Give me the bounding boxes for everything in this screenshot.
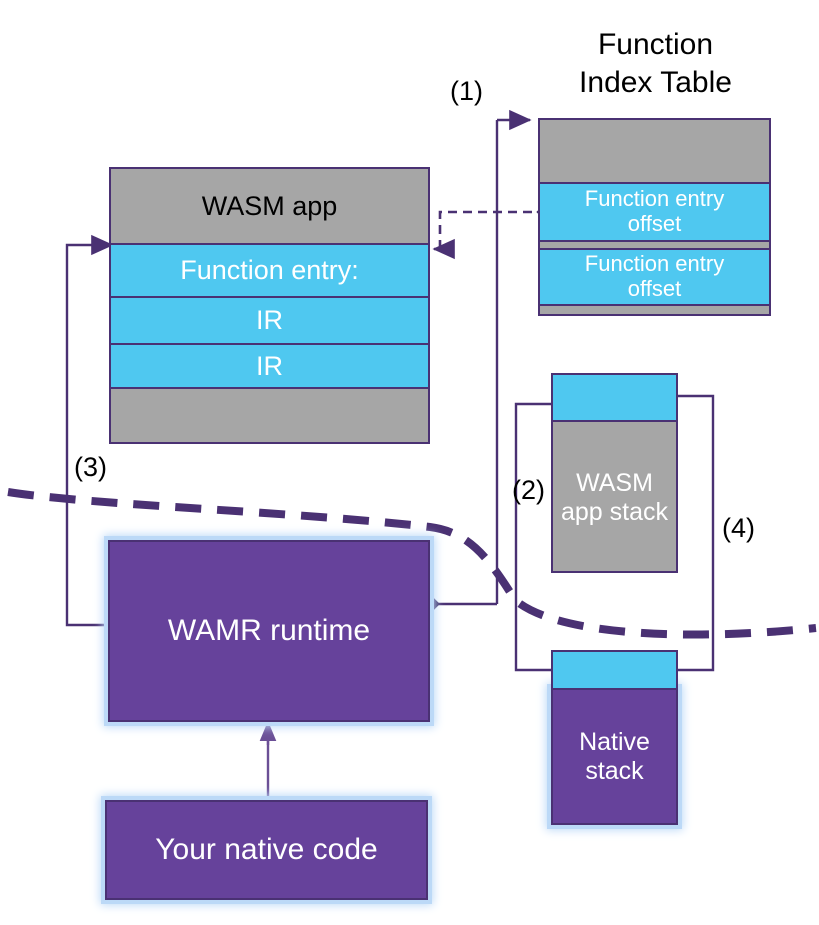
wasm-app-title: WASM app [111, 169, 428, 243]
wasm-app-row-ir-1: IR [111, 298, 428, 345]
native-stack-line-2: stack [579, 757, 650, 786]
step-label-3: (3) [74, 452, 107, 483]
wasm-app-stack-line-2: app stack [561, 498, 668, 527]
fit-row-2-line-2: offset [585, 277, 724, 302]
wasm-app-block: WASM app Function entry: IR IR [109, 167, 430, 444]
fit-row-2-line-1: Function entry [585, 252, 724, 277]
fit-row-1-line-1: Function entry [585, 187, 724, 212]
function-index-table-title: Function Index Table [528, 26, 783, 103]
connector-3-solid [67, 245, 112, 625]
wasm-app-stack-label: WASM app stack [553, 422, 676, 573]
native-stack-frame-slot [551, 650, 678, 690]
title-line-2: Index Table [528, 64, 783, 102]
wasm-app-row-ir-2: IR [111, 345, 428, 389]
wasm-app-row-function-entry: Function entry: [111, 243, 428, 298]
native-stack-block: Native stack [551, 688, 678, 825]
step-label-4: (4) [722, 513, 755, 544]
title-line-1: Function [528, 26, 783, 64]
function-index-table-row-2: Function entry offset [540, 248, 769, 306]
your-native-code-block: Your native code [105, 800, 428, 900]
function-index-table-block: Function entry offset Function entry off… [538, 118, 771, 316]
connector-1-dashed [434, 212, 547, 249]
step-label-1: (1) [450, 76, 483, 107]
function-index-table-row-1: Function entry offset [540, 182, 769, 242]
fit-row-1-line-2: offset [585, 212, 724, 237]
step-label-2: (2) [512, 475, 545, 506]
wamr-runtime-block: WAMR runtime [108, 540, 430, 722]
diagram-canvas: Function Index Table (1) (2) (3) (4) WAS… [0, 0, 819, 925]
wasm-app-stack-line-1: WASM [561, 469, 668, 498]
native-stack-line-1: Native [579, 728, 650, 757]
connector-1-solid [497, 120, 530, 604]
wasm-app-stack-block: WASM app stack [551, 373, 678, 573]
wasm-app-stack-frame-slot [553, 375, 676, 422]
